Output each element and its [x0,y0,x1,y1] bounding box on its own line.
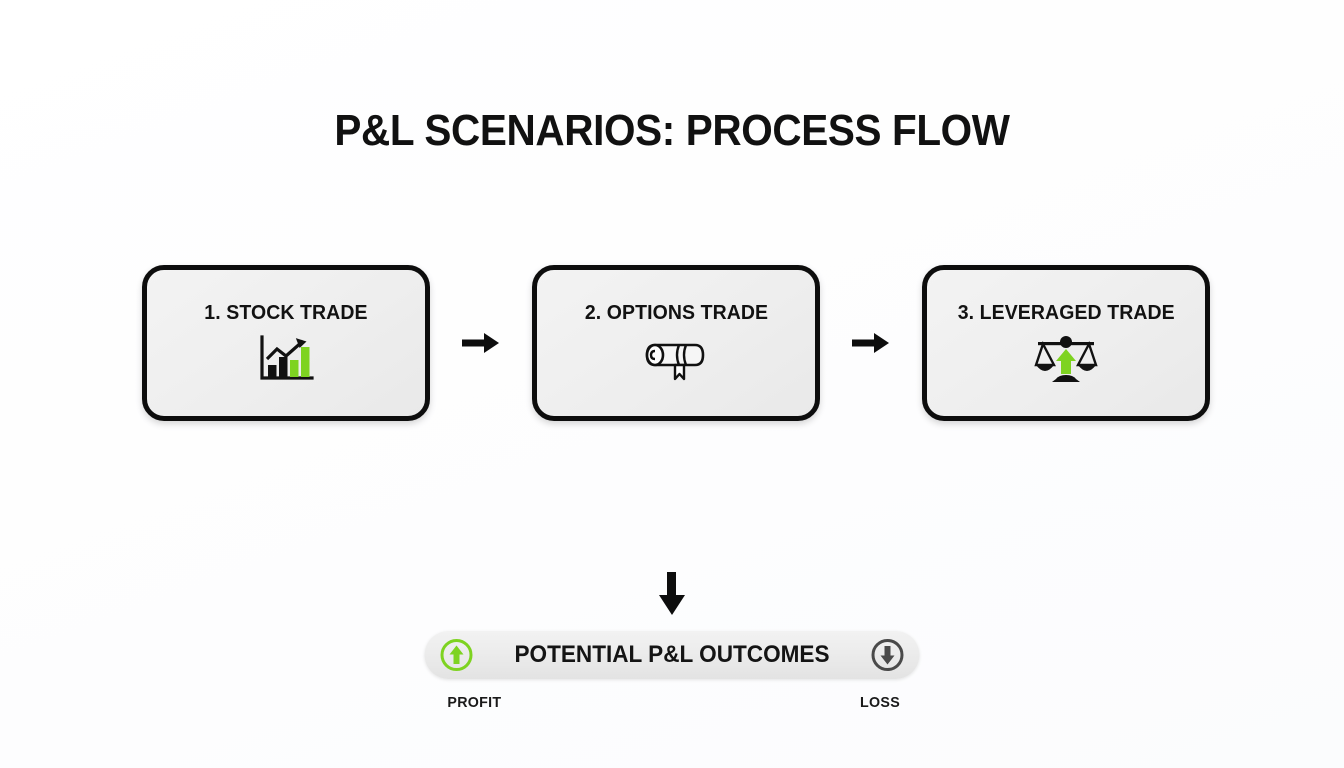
bar-chart-growth-icon [255,333,317,385]
caption-profit: PROFIT [447,694,501,711]
outcomes-title: POTENTIAL P&L OUTCOMES [486,641,857,669]
circle-arrow-up-icon [439,637,475,673]
balance-scale-leverage-icon [1028,333,1104,385]
scroll-contract-icon [639,333,713,385]
page-title: P&L SCENARIOS: PROCESS FLOW [54,106,1290,156]
step-label-stock-trade: 1. STOCK TRADE [204,301,367,325]
arrow-right-icon-1 [458,328,504,358]
potential-outcomes-bar[interactable]: POTENTIAL P&L OUTCOMES [425,631,920,679]
arrow-down-icon [655,570,689,618]
step-box-options-trade[interactable]: 2. OPTIONS TRADE [532,265,820,421]
step-label-leveraged-trade: 3. LEVERAGED TRADE [957,301,1174,325]
step-label-options-trade: 2. OPTIONS TRADE [584,301,767,325]
process-flow-row: 1. STOCK TRADE [142,265,1210,421]
step-box-stock-trade[interactable]: 1. STOCK TRADE [142,265,430,421]
step-box-leveraged-trade[interactable]: 3. LEVERAGED TRADE [922,265,1210,421]
slide-canvas: P&L SCENARIOS: PROCESS FLOW 1. STOCK TRA… [0,0,1344,768]
arrow-right-icon-2 [848,328,894,358]
caption-loss: LOSS [860,694,900,711]
circle-arrow-down-icon [870,637,906,673]
